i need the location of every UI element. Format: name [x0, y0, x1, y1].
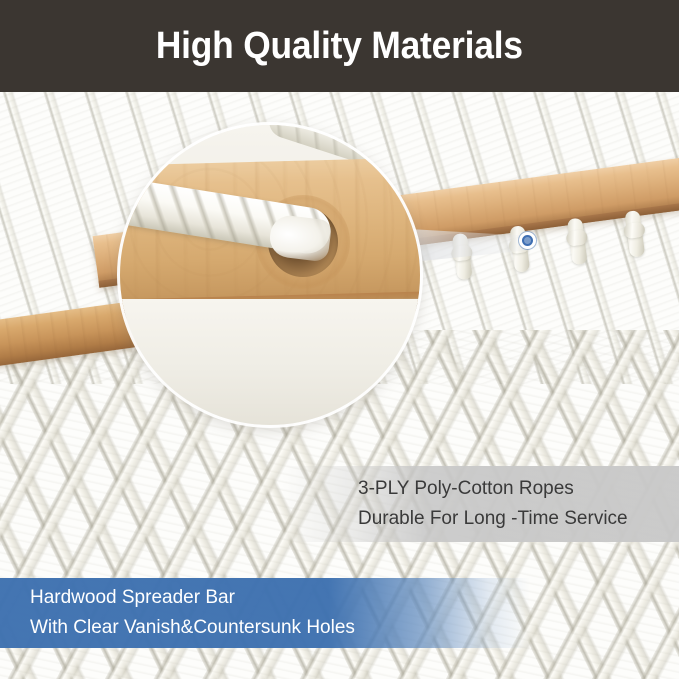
rope-caption-line-1: 3-PLY Poly-Cotton Ropes [358, 474, 679, 504]
rope-knot [624, 210, 645, 258]
product-feature-image: High Quality Materials 3-PLY Poly-Cotton… [0, 0, 679, 679]
header-bar: High Quality Materials [0, 0, 679, 92]
rope-caption-band: 3-PLY Poly-Cotton Ropes Durable For Long… [282, 466, 679, 542]
magnified-source-point-icon [519, 232, 536, 249]
magnifier-floor [120, 299, 420, 425]
magnifier-circle [120, 125, 420, 425]
page-title: High Quality Materials [156, 25, 523, 68]
rope-caption-line-2: Durable For Long -Time Service [358, 504, 679, 534]
spreader-bar-caption-line-2: With Clear Vanish&Countersunk Holes [30, 613, 530, 643]
spreader-bar-caption-line-1: Hardwood Spreader Bar [30, 583, 530, 613]
spreader-bar-caption-band: Hardwood Spreader Bar With Clear Vanish&… [0, 578, 530, 648]
rope-knot [567, 218, 588, 266]
